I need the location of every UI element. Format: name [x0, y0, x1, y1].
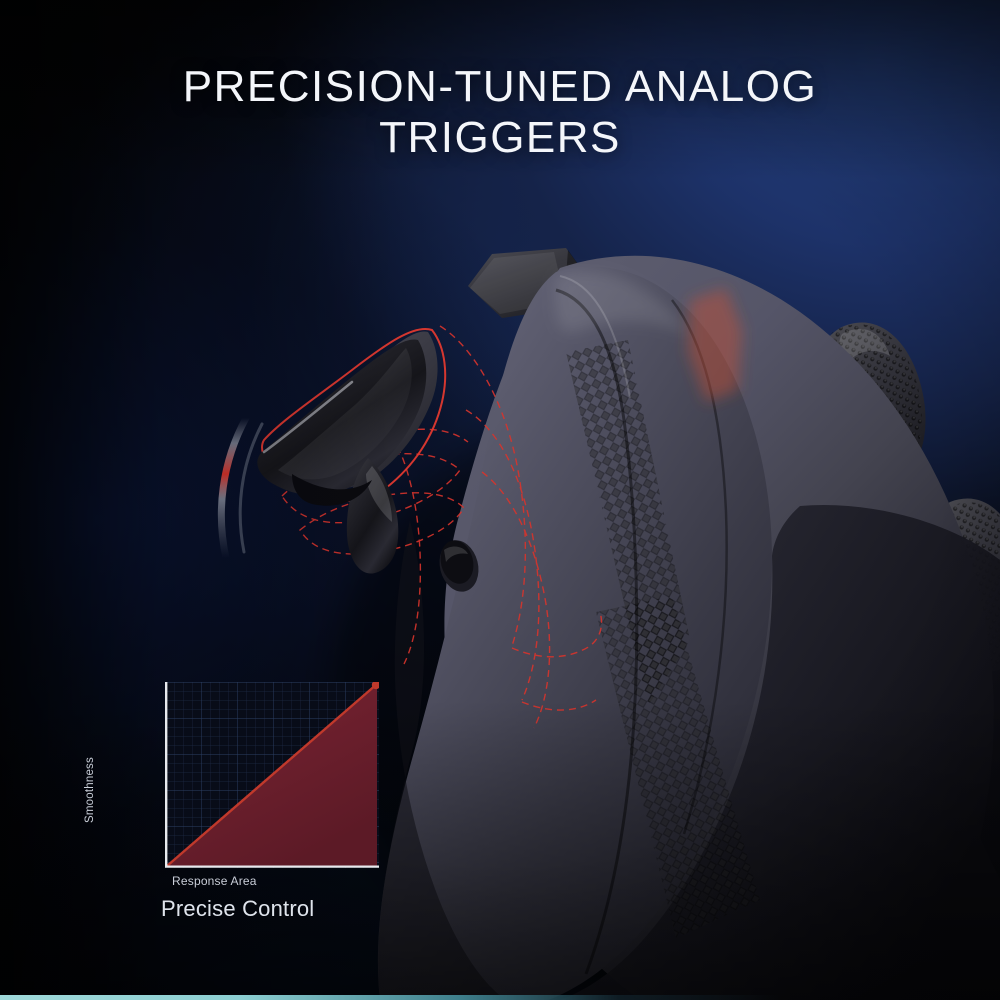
chart-svg — [165, 682, 379, 868]
chart-caption: Precise Control — [161, 896, 314, 922]
chart-x-axis-label: Response Area — [172, 874, 257, 888]
product-feature-banner: PRECISION-TUNED ANALOG TRIGGERS — [0, 0, 1000, 1000]
precise-control-chart: Smoothness Response Area Precise Control — [128, 668, 418, 930]
chart-y-axis-label: Smoothness — [84, 720, 96, 860]
bottom-accent-strip — [0, 995, 1000, 1000]
chart-plot-area — [165, 682, 379, 868]
